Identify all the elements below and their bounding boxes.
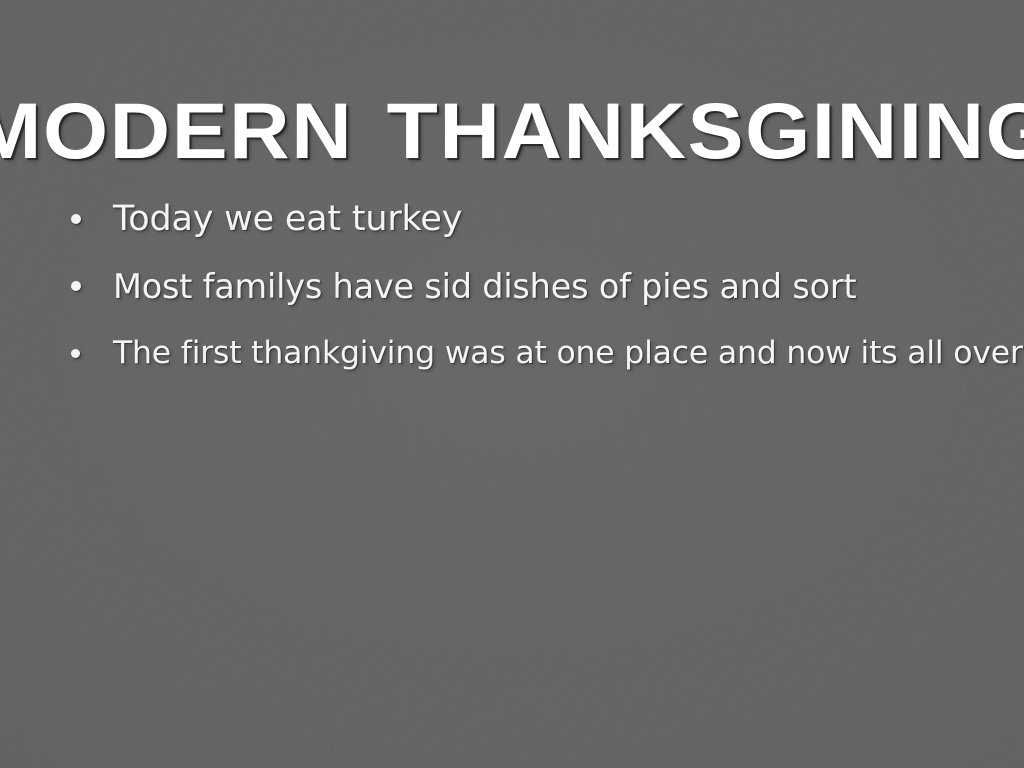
- list-item-label: Most familys have sid dishes of pies and…: [113, 263, 856, 310]
- list-item: Most familys have sid dishes of pies and…: [62, 263, 994, 310]
- list-item-label: The first thankgiving was at one place a…: [113, 330, 1024, 377]
- list-item: Today we eat turkey: [62, 196, 994, 243]
- presentation-slide: MODERN THANKSGINING Today we eat turkey …: [0, 0, 1024, 768]
- list-item: The first thankgiving was at one place a…: [62, 330, 994, 377]
- bullet-list: Today we eat turkey Most familys have si…: [62, 196, 994, 377]
- bullet-dot-icon: [71, 214, 81, 224]
- bullet-dot-icon: [71, 349, 80, 358]
- bullet-dot-icon: [71, 281, 81, 291]
- list-item-label: Today we eat turkey: [113, 196, 462, 243]
- slide-title: MODERN THANKSGINING: [0, 91, 1024, 170]
